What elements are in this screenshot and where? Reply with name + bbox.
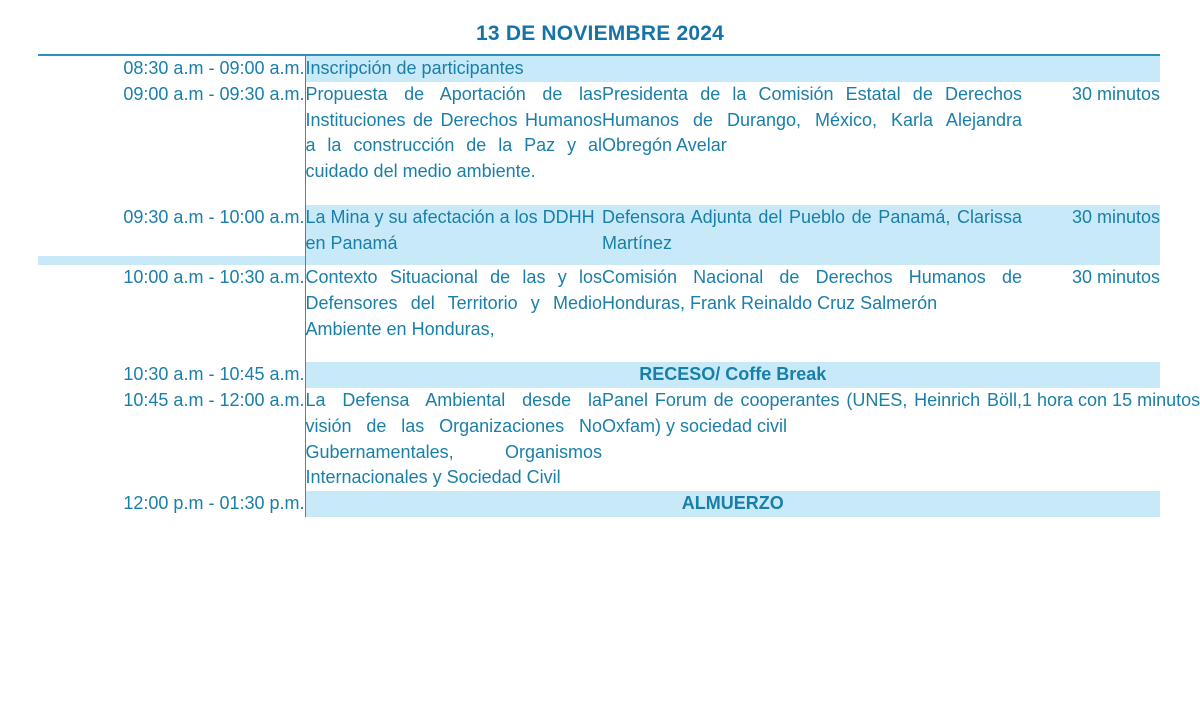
row-topic: Propuesta de Aportación de las Instituci… (305, 82, 602, 185)
row-banner-label: ALMUERZO (305, 491, 1160, 517)
spacer-person (602, 256, 1022, 265)
table-row-lunch: 12:00 p.m - 01:30 p.m. ALMUERZO (38, 491, 1160, 517)
row-spacer (38, 185, 1160, 205)
row-topic: Contexto Situacional de las y los Defens… (305, 265, 602, 342)
row-topic: La Mina y su afectación a los DDHH en Pa… (305, 205, 602, 256)
row-topic: La Defensa Ambiental desde la visión de … (305, 388, 602, 491)
spacer-time (38, 342, 305, 362)
table-row: 09:30 a.m - 10:00 a.m. La Mina y su afec… (38, 205, 1160, 256)
table-row: 08:30 a.m - 09:00 a.m. Inscripción de pa… (38, 55, 1160, 82)
row-person: Comisión Nacional de Derechos Humanos de… (602, 265, 1022, 342)
row-spacer (38, 256, 1160, 265)
row-time: 10:45 a.m - 12:00 a.m. (38, 388, 305, 491)
row-duration: 1 hora con 15 minutos (1022, 388, 1160, 491)
row-banner-label: RECESO/ Coffe Break (305, 362, 1160, 388)
row-time: 09:00 a.m - 09:30 a.m. (38, 82, 305, 185)
row-duration: 30 minutos (1022, 265, 1160, 342)
row-duration (1022, 55, 1160, 82)
row-person: Presidenta de la Comisión Estatal de Der… (602, 82, 1022, 185)
agenda-table: 08:30 a.m - 09:00 a.m. Inscripción de pa… (38, 54, 1160, 517)
spacer-duration (1022, 256, 1160, 265)
spacer-topic (305, 342, 602, 362)
row-time: 10:00 a.m - 10:30 a.m. (38, 265, 305, 342)
row-person: Defensora Adjunta del Pueblo de Panamá, … (602, 205, 1022, 256)
table-row-break: 10:30 a.m - 10:45 a.m. RECESO/ Coffe Bre… (38, 362, 1160, 388)
row-time: 08:30 a.m - 09:00 a.m. (38, 55, 305, 82)
row-topic: Inscripción de participantes (305, 55, 602, 82)
spacer-time (38, 256, 305, 265)
row-time: 10:30 a.m - 10:45 a.m. (38, 362, 305, 388)
spacer-duration (1022, 342, 1160, 362)
spacer-person (602, 342, 1022, 362)
table-row: 10:45 a.m - 12:00 a.m. La Defensa Ambien… (38, 388, 1160, 491)
row-person: Panel Forum de cooperantes (UNES, Heinri… (602, 388, 1022, 491)
spacer-duration (1022, 185, 1160, 205)
page-title: 13 DE NOVIEMBRE 2024 (0, 0, 1200, 54)
agenda-page: 13 DE NOVIEMBRE 2024 08:30 a.m - 09:00 a… (0, 0, 1200, 723)
row-time: 09:30 a.m - 10:00 a.m. (38, 205, 305, 256)
row-duration: 30 minutos (1022, 205, 1160, 256)
row-time: 12:00 p.m - 01:30 p.m. (38, 491, 305, 517)
row-duration: 30 minutos (1022, 82, 1160, 185)
row-person (602, 55, 1022, 82)
table-row: 09:00 a.m - 09:30 a.m. Propuesta de Apor… (38, 82, 1160, 185)
table-row: 10:00 a.m - 10:30 a.m. Contexto Situacio… (38, 265, 1160, 342)
spacer-person (602, 185, 1022, 205)
spacer-time (38, 185, 305, 205)
agenda-table-body: 08:30 a.m - 09:00 a.m. Inscripción de pa… (38, 55, 1160, 517)
row-spacer (38, 342, 1160, 362)
spacer-topic (305, 256, 602, 265)
spacer-topic (305, 185, 602, 205)
